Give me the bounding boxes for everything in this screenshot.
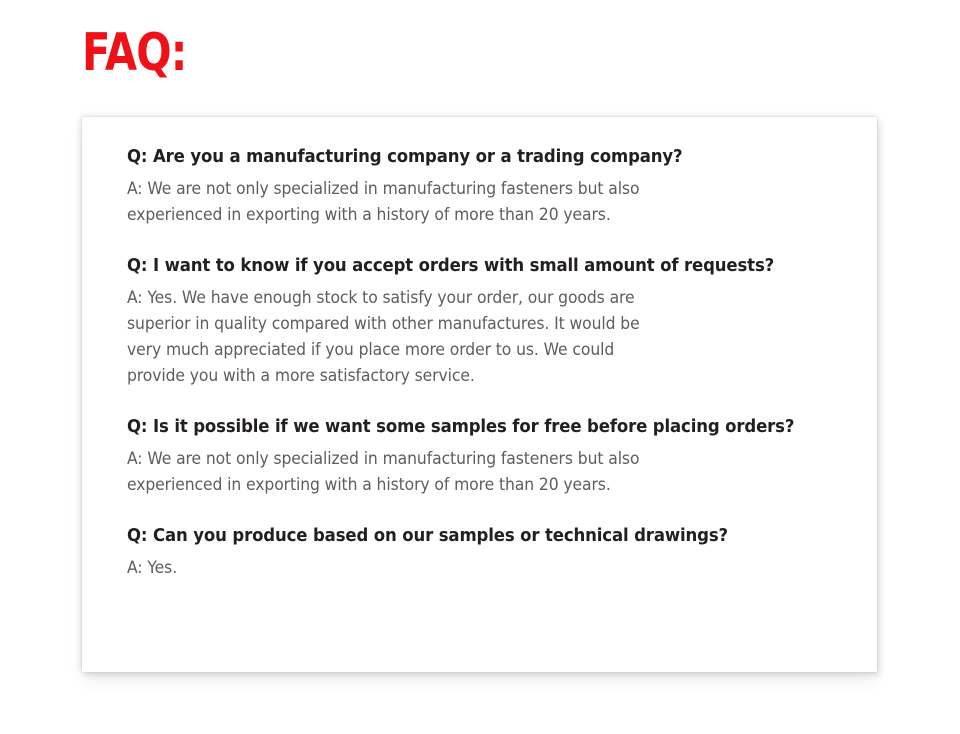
- faq-question: Q: I want to know if you accept orders w…: [127, 254, 819, 278]
- faq-answer-line: superior in quality compared with other …: [127, 311, 819, 337]
- faq-answer-line: A: Yes. We have enough stock to satisfy …: [127, 285, 819, 311]
- faq-answer-line: A: We are not only specialized in manufa…: [127, 176, 819, 202]
- faq-item: Q: I want to know if you accept orders w…: [127, 254, 859, 389]
- faq-answer-line: experienced in exporting with a history …: [127, 472, 819, 498]
- page-title: FAQ:: [82, 23, 187, 83]
- faq-answer-line: A: Yes.: [127, 555, 819, 581]
- faq-item: Q: Are you a manufacturing company or a …: [127, 145, 859, 228]
- faq-answer: A: Yes. We have enough stock to satisfy …: [127, 285, 819, 389]
- faq-item: Q: Is it possible if we want some sample…: [127, 415, 859, 498]
- faq-item: Q: Can you produce based on our samples …: [127, 524, 859, 581]
- faq-question: Q: Can you produce based on our samples …: [127, 524, 819, 548]
- faq-card: Q: Are you a manufacturing company or a …: [82, 117, 877, 672]
- faq-list: Q: Are you a manufacturing company or a …: [127, 145, 859, 581]
- faq-question: Q: Is it possible if we want some sample…: [127, 415, 819, 439]
- faq-answer-line: very much appreciated if you place more …: [127, 337, 819, 363]
- faq-answer: A: Yes.: [127, 555, 819, 581]
- faq-answer-line: experienced in exporting with a history …: [127, 202, 819, 228]
- faq-answer-line: provide you with a more satisfactory ser…: [127, 363, 819, 389]
- faq-answer-line: A: We are not only specialized in manufa…: [127, 446, 819, 472]
- faq-answer: A: We are not only specialized in manufa…: [127, 446, 819, 498]
- faq-answer: A: We are not only specialized in manufa…: [127, 176, 819, 228]
- faq-question: Q: Are you a manufacturing company or a …: [127, 145, 819, 169]
